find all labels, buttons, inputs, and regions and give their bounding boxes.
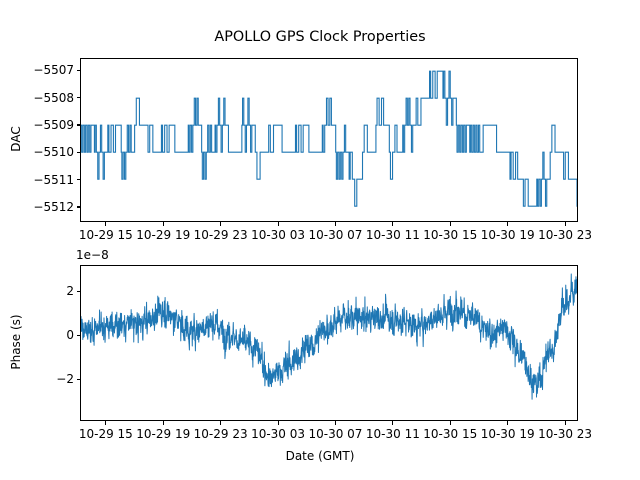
dac-y-tick-mark bbox=[77, 179, 81, 180]
dac-plot-axes bbox=[80, 58, 578, 222]
x-tick-label: 10-30 15 bbox=[423, 228, 477, 242]
phase-y-tick-mark bbox=[77, 379, 81, 380]
x-tick-label: 10-30 19 bbox=[481, 427, 535, 441]
x-tick-label: 10-30 15 bbox=[423, 427, 477, 441]
x-tick-label: 10-30 03 bbox=[251, 427, 305, 441]
x-tick-label: 10-30 19 bbox=[481, 228, 535, 242]
x-tick-label: 10-29 23 bbox=[194, 427, 248, 441]
phase-plot-axes bbox=[80, 265, 578, 421]
phase-series-line bbox=[81, 266, 577, 420]
x-tick-label: 10-29 15 bbox=[79, 427, 133, 441]
dac-y-tick-mark bbox=[77, 206, 81, 207]
x-tick-mark bbox=[450, 421, 451, 425]
x-tick-mark bbox=[335, 222, 336, 226]
phase-y-offset-text: 1e−8 bbox=[76, 248, 109, 262]
x-tick-mark bbox=[335, 421, 336, 425]
x-tick-label: 10-30 23 bbox=[538, 228, 592, 242]
x-tick-label: 10-29 19 bbox=[136, 228, 190, 242]
x-tick-mark bbox=[105, 421, 106, 425]
x-tick-mark bbox=[105, 222, 106, 226]
x-tick-label: 10-30 23 bbox=[538, 427, 592, 441]
x-tick-label: 10-29 15 bbox=[79, 228, 133, 242]
x-tick-mark bbox=[220, 421, 221, 425]
x-tick-mark bbox=[392, 421, 393, 425]
x-tick-label: 10-30 07 bbox=[308, 228, 362, 242]
phase-y-axis-label: Phase (s) bbox=[9, 294, 23, 390]
x-tick-mark bbox=[278, 222, 279, 226]
x-tick-mark bbox=[450, 222, 451, 226]
figure-title: APOLLO GPS Clock Properties bbox=[0, 29, 640, 45]
x-tick-label: 10-30 11 bbox=[366, 427, 420, 441]
x-tick-label: 10-29 19 bbox=[136, 427, 190, 441]
phase-y-tick-mark bbox=[77, 335, 81, 336]
dac-y-axis-label: DAC bbox=[9, 99, 23, 179]
dac-y-tick-mark bbox=[77, 70, 81, 71]
dac-series-line bbox=[81, 59, 577, 221]
phase-x-axis-label: Date (GMT) bbox=[0, 449, 640, 463]
dac-y-tick-label: −5507 bbox=[0, 63, 74, 77]
x-tick-mark bbox=[565, 222, 566, 226]
x-tick-mark bbox=[392, 222, 393, 226]
x-tick-mark bbox=[163, 222, 164, 226]
phase-y-tick-mark bbox=[77, 291, 81, 292]
x-tick-mark bbox=[507, 421, 508, 425]
dac-y-tick-mark bbox=[77, 97, 81, 98]
x-tick-label: 10-30 11 bbox=[366, 228, 420, 242]
x-tick-mark bbox=[220, 222, 221, 226]
x-tick-mark bbox=[507, 222, 508, 226]
x-tick-label: 10-30 03 bbox=[251, 228, 305, 242]
dac-y-tick-label: −5512 bbox=[0, 200, 74, 214]
matplotlib-figure: APOLLO GPS Clock Properties −5507−5508−5… bbox=[0, 0, 640, 480]
x-tick-mark bbox=[565, 421, 566, 425]
x-tick-label: 10-30 07 bbox=[308, 427, 362, 441]
x-tick-label: 10-29 23 bbox=[194, 228, 248, 242]
dac-y-tick-mark bbox=[77, 124, 81, 125]
x-tick-mark bbox=[278, 421, 279, 425]
x-tick-mark bbox=[163, 421, 164, 425]
dac-y-tick-mark bbox=[77, 152, 81, 153]
